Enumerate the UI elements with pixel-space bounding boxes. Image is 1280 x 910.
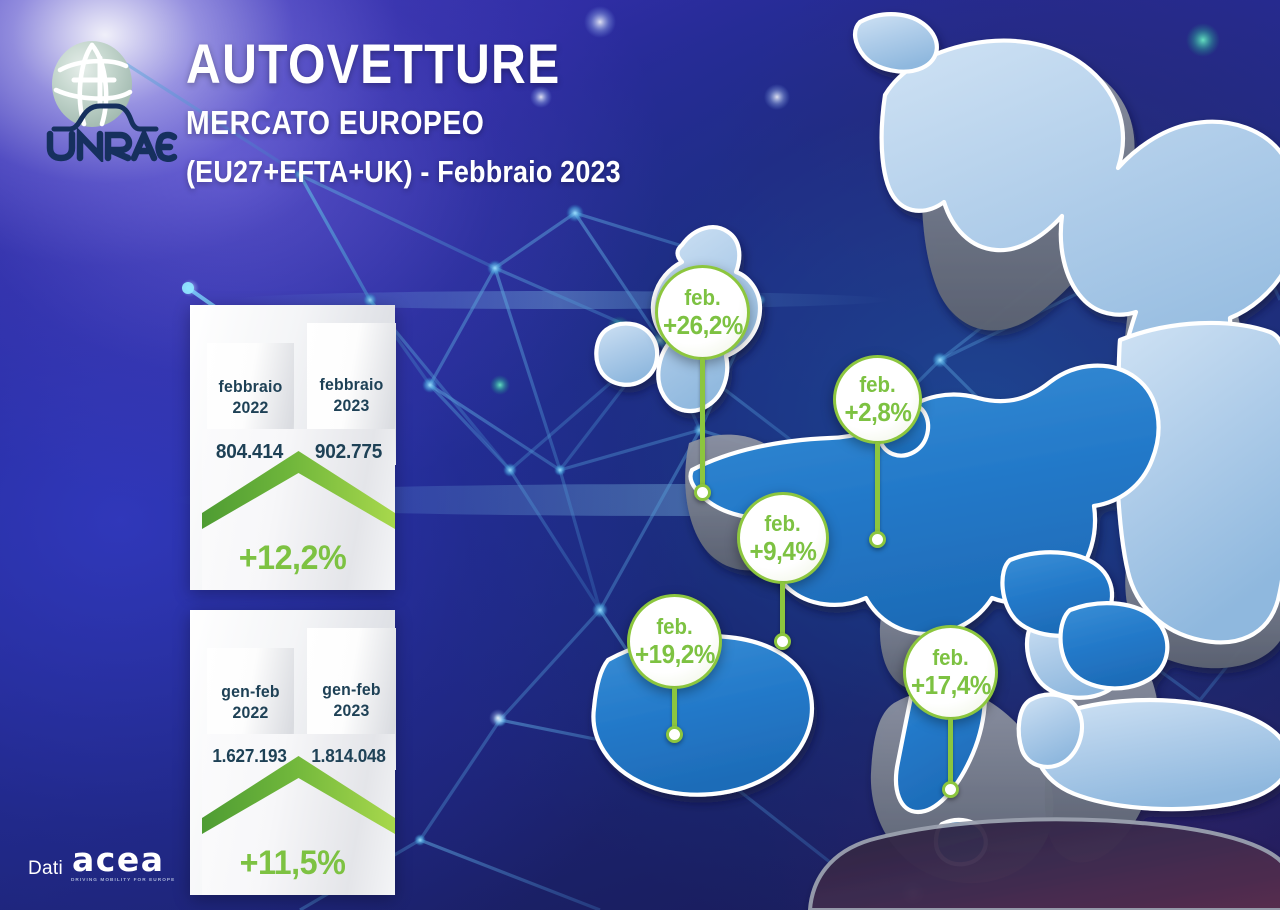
title-block: AUTOVETTURE MERCATO EUROPEO (EU27+EFTA+U… [186, 36, 686, 187]
panel-label-current: febbraio 2023 [310, 375, 393, 416]
card-inner: febbraio 2022 febbraio 2023 [196, 311, 389, 584]
unrae-logo [30, 36, 178, 162]
pin-bubble[interactable]: feb. +26,2% [655, 265, 750, 360]
pin-stem [700, 358, 705, 493]
pin-period: feb. [656, 616, 692, 638]
pin-period: feb. [765, 513, 801, 535]
pin-anchor-dot [774, 633, 791, 650]
pin-anchor-dot [666, 726, 683, 743]
pin-bubble[interactable]: feb. +19,2% [627, 594, 722, 689]
header: AUTOVETTURE MERCATO EUROPEO (EU27+EFTA+U… [0, 0, 760, 215]
page-subtitle: MERCATO EUROPEO [186, 106, 616, 139]
panel-label-previous: febbraio 2022 [210, 377, 291, 418]
stat-card-monthly: febbraio 2022 febbraio 2023 [190, 305, 395, 590]
variation-percent: +12,2% [201, 539, 384, 578]
infographic-canvas: AUTOVETTURE MERCATO EUROPEO (EU27+EFTA+U… [0, 0, 1280, 910]
pin-value: +9,4% [750, 538, 817, 564]
value-previous-period: 804.414 [201, 441, 299, 464]
value-previous-period: 1.627.193 [201, 746, 299, 767]
acea-logo: acea DRIVING MOBILITY FOR EUROPE [72, 845, 174, 882]
variation-percent: +11,5% [201, 844, 384, 883]
stat-card-ytd: gen-feb 2022 gen-feb 2023 1.627.193 1.81… [190, 610, 395, 895]
pin-value: +2,8% [844, 399, 911, 425]
pin-value: +17,4% [911, 672, 991, 698]
panel-label-previous: gen-feb 2022 [210, 682, 291, 723]
pin-value: +26,2% [663, 312, 743, 338]
pin-period: feb. [684, 287, 720, 309]
pin-stem [875, 442, 880, 540]
pin-bubble[interactable]: feb. +9,4% [737, 492, 829, 584]
acea-tagline: DRIVING MOBILITY FOR EUROPE [71, 877, 175, 882]
pin-period: feb. [859, 374, 895, 396]
pin-period: feb. [932, 647, 968, 669]
pin-value: +19,2% [635, 641, 715, 667]
pin-anchor-dot [694, 484, 711, 501]
growth-chevron-icon [202, 756, 395, 834]
page-title: AUTOVETTURE [186, 36, 616, 92]
acea-wordmark: acea [72, 845, 174, 875]
card-inner: gen-feb 2022 gen-feb 2023 1.627.193 1.81… [196, 616, 389, 889]
page-scope: (EU27+EFTA+UK) - Febbraio 2023 [186, 156, 621, 187]
pin-bubble[interactable]: feb. +17,4% [903, 625, 998, 720]
pin-anchor-dot [942, 781, 959, 798]
pin-stem [948, 718, 953, 790]
pin-bubble[interactable]: feb. +2,8% [833, 355, 922, 444]
source-prefix-label: Dati [28, 859, 63, 882]
unrae-globe-car-icon [30, 36, 178, 162]
value-current-period: 902.775 [300, 441, 398, 464]
value-current-period: 1.814.048 [300, 746, 398, 767]
panel-label-current: gen-feb 2023 [310, 680, 393, 721]
data-source-footer: Dati acea DRIVING MOBILITY FOR EUROPE [28, 845, 174, 882]
pin-anchor-dot [869, 531, 886, 548]
